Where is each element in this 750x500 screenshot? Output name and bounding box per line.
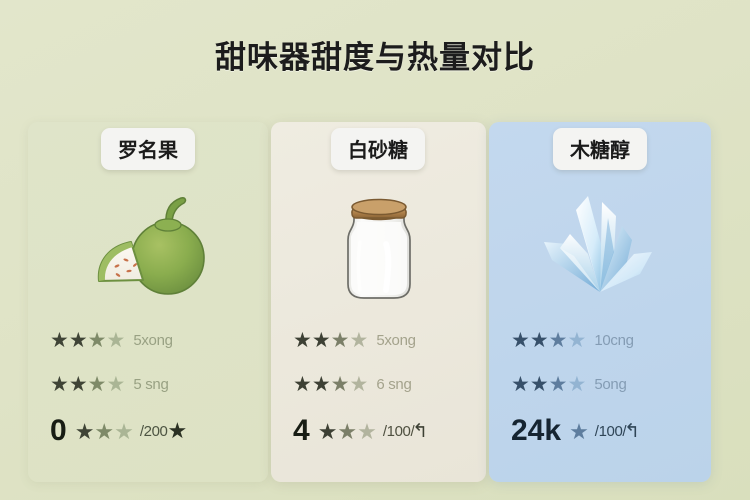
star-empty-icon: ★ xyxy=(567,330,585,351)
star-icon: ★ xyxy=(75,421,94,442)
comparison-cards: ★ ★ ★ ★ 5xong ★ ★ ★ ★ 5 sng xyxy=(0,122,750,482)
star-empty-icon: ★ xyxy=(349,374,367,395)
star-icon: ★ xyxy=(511,374,529,395)
star-half-icon: ★ xyxy=(88,374,106,395)
star-half-icon: ★ xyxy=(549,374,567,395)
star-icon: ★ xyxy=(511,330,529,351)
card-monk-fruit[interactable]: ★ ★ ★ ★ 5xong ★ ★ ★ ★ 5 sng xyxy=(28,122,268,482)
star-rating: ★ ★ ★ ★ xyxy=(511,374,585,395)
star-half-icon: ★ xyxy=(549,330,567,351)
star-rating: ★ ★ ★ ★ xyxy=(511,330,585,351)
metric-unit: /200 xyxy=(140,423,168,440)
star-icon: ★ xyxy=(530,374,548,395)
star-half-icon: ★ xyxy=(569,421,588,442)
metric-row: 4 ★ ★ ★ /100/ ↰ xyxy=(293,406,464,456)
crystal-icon xyxy=(489,174,711,314)
stats-xylitol: ★ ★ ★ ★ 10cng ★ ★ ★ ★ 5ong xyxy=(489,318,711,456)
arrow-glyph-icon: ↰ xyxy=(412,420,428,443)
metric-value: 0 xyxy=(50,416,67,446)
stat-label: 5xong xyxy=(376,332,415,349)
card-title-xylitol[interactable]: 木糖醇 xyxy=(553,128,647,170)
stat-label: 10cng xyxy=(594,332,633,349)
metric-unit: /100/ xyxy=(595,423,626,440)
star-empty-icon: ★ xyxy=(357,421,376,442)
star-half-icon: ★ xyxy=(331,330,349,351)
arrow-glyph-icon: ↰ xyxy=(624,420,640,443)
star-empty-icon: ★ xyxy=(349,330,367,351)
stat-label: 6 sng xyxy=(376,376,411,393)
stat-row: ★ ★ ★ ★ 5 sng xyxy=(50,362,246,406)
star-icon: ★ xyxy=(50,330,68,351)
star-half-icon: ★ xyxy=(94,421,113,442)
star-empty-icon: ★ xyxy=(114,421,133,442)
metric-unit: /100/ xyxy=(383,423,414,440)
stat-row: ★ ★ ★ ★ 10cng xyxy=(511,318,689,362)
metric-value: 24k xyxy=(511,416,561,446)
star-rating: ★ ★ ★ ★ xyxy=(50,330,124,351)
star-rating: ★ ★ ★ xyxy=(318,421,376,442)
stats-white-sugar: ★ ★ ★ ★ 5xong ★ ★ ★ ★ 6 sng xyxy=(271,318,486,456)
monk-fruit-icon xyxy=(28,174,268,314)
star-empty-icon: ★ xyxy=(106,374,124,395)
metric-row: 0 ★ ★ ★ /200 ★ xyxy=(50,406,246,456)
stat-label: 5ong xyxy=(594,376,626,393)
card-title-monk-fruit[interactable]: 罗名果 xyxy=(101,128,195,170)
stat-label: 5 sng xyxy=(133,376,168,393)
star-empty-icon: ★ xyxy=(567,374,585,395)
star-icon: ★ xyxy=(168,418,188,444)
page-title: 甜味器甜度与热量对比 xyxy=(0,32,750,77)
card-title-white-sugar[interactable]: 白砂糖 xyxy=(331,128,425,170)
card-xylitol[interactable]: ★ ★ ★ ★ 10cng ★ ★ ★ ★ 5ong xyxy=(489,122,711,482)
infographic-canvas: 甜味器甜度与热量对比 xyxy=(0,0,750,500)
metric-row: 24k ★ /100/ ↰ xyxy=(511,406,689,456)
star-rating: ★ ★ ★ ★ xyxy=(293,330,367,351)
star-icon: ★ xyxy=(312,374,330,395)
star-icon: ★ xyxy=(50,374,68,395)
star-half-icon: ★ xyxy=(337,421,356,442)
star-half-icon: ★ xyxy=(331,374,349,395)
star-empty-icon: ★ xyxy=(106,330,124,351)
stat-row: ★ ★ ★ ★ 5xong xyxy=(50,318,246,362)
metric-value: 4 xyxy=(293,416,310,446)
stats-monk-fruit: ★ ★ ★ ★ 5xong ★ ★ ★ ★ 5 sng xyxy=(28,318,268,456)
stat-row: ★ ★ ★ ★ 5xong xyxy=(293,318,464,362)
stat-row: ★ ★ ★ ★ 5ong xyxy=(511,362,689,406)
star-icon: ★ xyxy=(312,330,330,351)
star-icon: ★ xyxy=(69,330,87,351)
star-half-icon: ★ xyxy=(88,330,106,351)
star-icon: ★ xyxy=(293,330,311,351)
star-rating: ★ ★ ★ ★ xyxy=(293,374,367,395)
star-icon: ★ xyxy=(293,374,311,395)
sugar-jar-icon xyxy=(271,174,486,314)
star-rating: ★ ★ ★ ★ xyxy=(50,374,124,395)
star-rating: ★ xyxy=(569,421,588,442)
stat-row: ★ ★ ★ ★ 6 sng xyxy=(293,362,464,406)
stat-label: 5xong xyxy=(133,332,172,349)
star-icon: ★ xyxy=(69,374,87,395)
star-icon: ★ xyxy=(530,330,548,351)
card-white-sugar[interactable]: ★ ★ ★ ★ 5xong ★ ★ ★ ★ 6 sng xyxy=(271,122,486,482)
star-rating: ★ ★ ★ xyxy=(75,421,133,442)
star-icon: ★ xyxy=(318,421,337,442)
